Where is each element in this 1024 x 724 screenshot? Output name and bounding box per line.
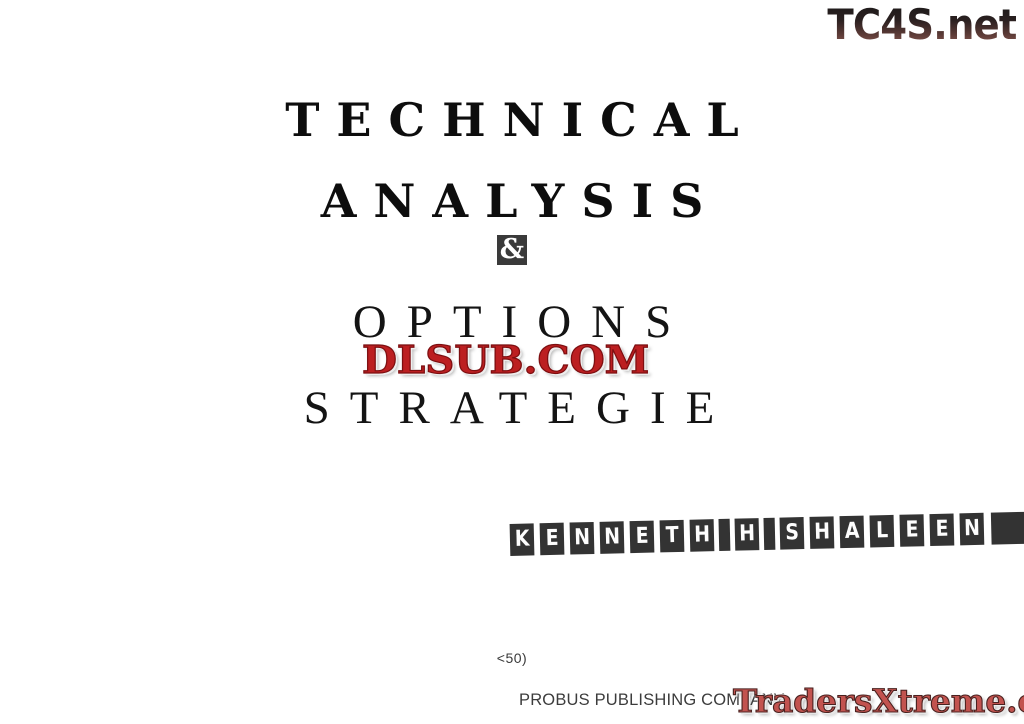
page-mark: <50) (0, 650, 1024, 666)
author-tile (991, 512, 1024, 545)
cover-title-line-technical: TECHNICAL (0, 97, 1024, 143)
author-tile: E (630, 521, 655, 554)
author-tile: T (660, 520, 685, 553)
ampersand-glyph: & (497, 235, 527, 265)
author-tile (763, 518, 775, 550)
cover-ampersand-block: & (0, 235, 1024, 265)
tc4s-logo-watermark: TC4S.net (827, 4, 1016, 46)
cover-title-line-strategies: STRATEGIE (0, 385, 1024, 432)
author-tile: K (510, 523, 535, 556)
author-tile: E (929, 513, 954, 546)
author-tile: N (570, 522, 595, 555)
author-tile: H (735, 518, 760, 551)
author-tile: N (600, 521, 625, 554)
cover-title-line-analysis: ANALYSIS (0, 178, 1024, 224)
book-cover-page: TC4S.net TECHNICAL ANALYSIS & OPTIONS ST… (0, 0, 1024, 724)
author-name-banner: KENNETHHSHALEEN (508, 512, 1024, 556)
author-tile: S (780, 517, 805, 550)
tradersxtreme-watermark: TradersXtreme.com (733, 683, 1024, 719)
dlsub-watermark: DLSUB.COM (362, 340, 649, 380)
author-tile: H (809, 516, 834, 549)
author-tile: E (899, 514, 924, 547)
author-tile: L (869, 515, 894, 548)
author-tile: A (839, 516, 864, 549)
author-tile (718, 519, 730, 551)
author-tile: N (959, 513, 984, 546)
author-tile: E (540, 523, 565, 556)
author-tile: H (690, 519, 715, 552)
